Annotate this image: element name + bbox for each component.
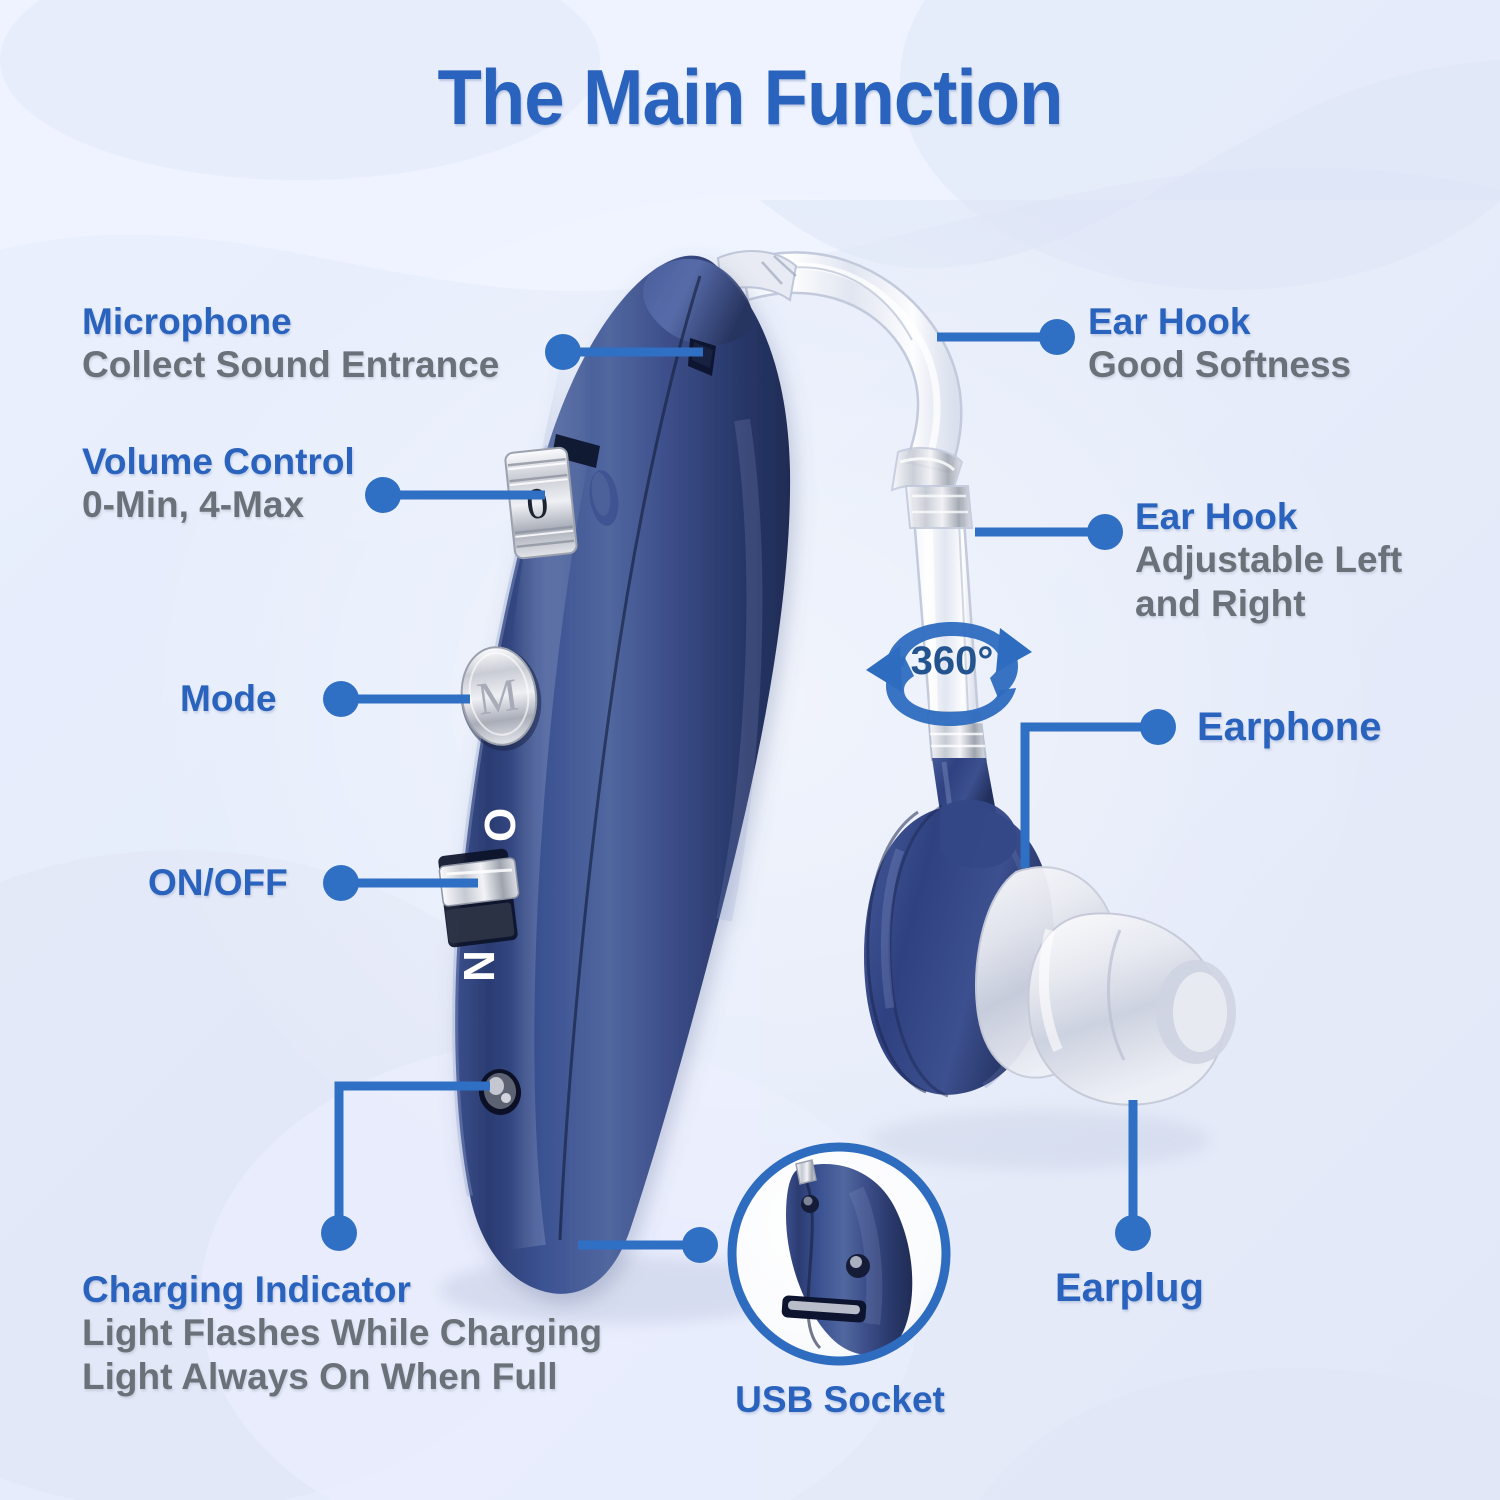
earplug-tip [976,867,1236,1105]
callout-earhook-adjust-heading: Ear Hook [1135,495,1402,538]
leader-earphone [1025,727,1158,868]
callout-charging-sub-1: Light Flashes While Charging [82,1311,602,1354]
usb-device-nub [796,1160,816,1184]
dot-volume [365,477,401,513]
callout-volume-sub: 0-Min, 4-Max [82,483,355,526]
callout-earplug-heading: Earplug [1055,1265,1204,1312]
callout-on-off: ON/OFF [148,861,288,904]
callout-charging-sub-2: Light Always On When Full [82,1355,602,1398]
callout-microphone-heading: Microphone [82,300,499,343]
hearing-aid-body [455,256,790,1294]
callout-volume-heading: Volume Control [82,440,355,483]
callout-usb-socket: USB Socket [700,1378,980,1421]
callout-earphone: Earphone [1197,704,1381,751]
callout-ear-hook-adjustable: Ear Hook Adjustable Left and Right [1135,495,1402,625]
callout-charging-heading: Charging Indicator [82,1268,602,1311]
dot-earhook-adjust [1087,514,1123,550]
callout-earhook-adjust-sub-1: Adjustable Left [1135,538,1402,581]
callout-mode: Mode [180,677,277,720]
callout-volume-control: Volume Control 0-Min, 4-Max [82,440,355,527]
callout-earplug: Earplug [1055,1265,1204,1312]
dot-earplug [1115,1215,1151,1251]
page-title: The Main Function [53,58,1448,136]
infographic-canvas: 360° 0 [0,0,1500,1500]
callout-earphone-heading: Earphone [1197,704,1381,751]
mode-button-glyph: M [474,668,522,724]
callout-earhook-adjust-sub-2: and Right [1135,582,1402,625]
dome-neck [940,800,1017,869]
dot-microphone [545,334,581,370]
switch-marking-n: N [454,950,503,982]
callout-microphone-sub: Collect Sound Entrance [82,343,499,386]
callout-onoff-heading: ON/OFF [148,861,288,904]
callout-earhook-soft-heading: Ear Hook [1088,300,1351,343]
callout-charging-indicator: Charging Indicator Light Flashes While C… [82,1268,602,1398]
callout-mode-heading: Mode [180,677,277,720]
earphone-assembly [864,800,1236,1105]
dot-usb [682,1227,718,1263]
usb-socket-inset [728,1143,950,1365]
callout-ear-hook-softness: Ear Hook Good Softness [1088,300,1351,387]
dot-charging [321,1215,357,1251]
callout-earhook-soft-sub: Good Softness [1088,343,1351,386]
dot-mode [323,681,359,717]
earplug-bore [1173,972,1227,1052]
dot-onoff [323,865,359,901]
rotation-badge-label: 360° [911,639,994,683]
dot-earhook-soft [1039,319,1075,355]
switch-marking-o: O [475,808,524,842]
callout-microphone: Microphone Collect Sound Entrance [82,300,499,387]
earphone-shadow [870,1110,1210,1170]
dot-earphone [1140,709,1176,745]
callout-usb-heading: USB Socket [700,1378,980,1421]
ear-hook-joint-lower [906,486,972,528]
